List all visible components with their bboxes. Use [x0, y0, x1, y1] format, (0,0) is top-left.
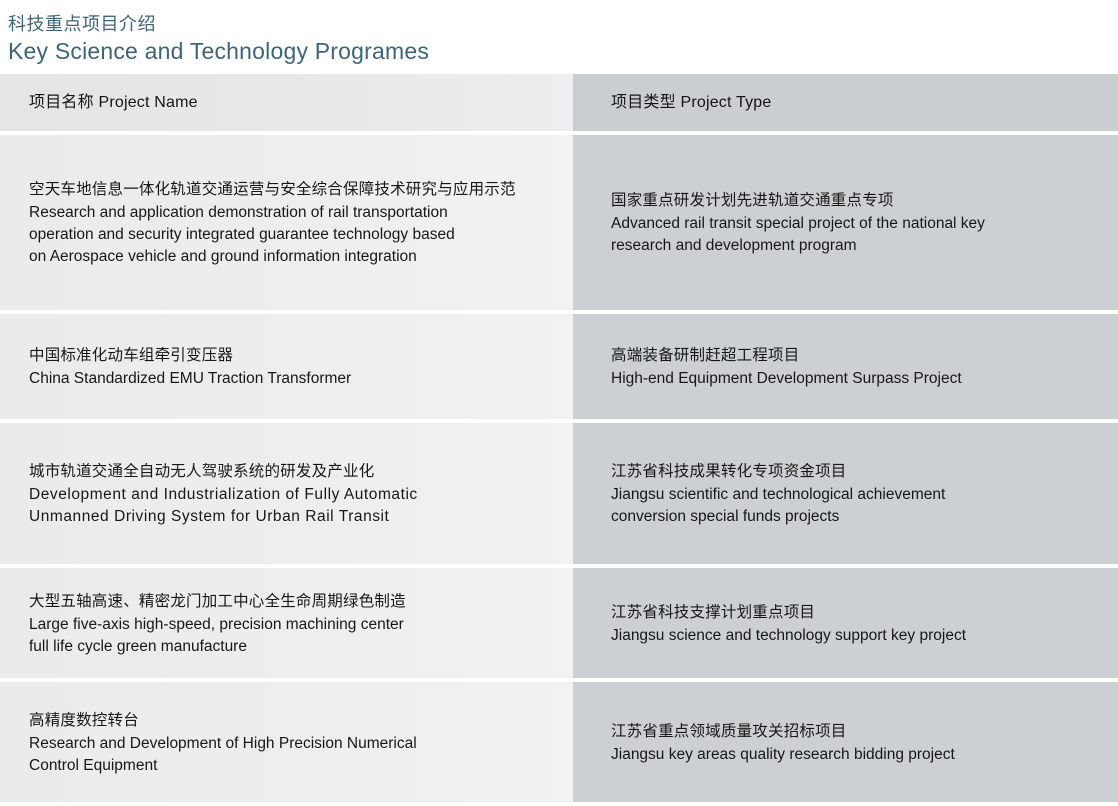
project-type-english-line: Advanced rail transit special project of… [611, 213, 1100, 235]
page-title-chinese: 科技重点项目介绍 [8, 12, 1118, 36]
project-name-english-line: full life cycle green manufacture [29, 636, 559, 658]
header-label-project-type: 项目类型 Project Type [611, 92, 1100, 114]
project-name-english-line: Development and Industrialization of Ful… [29, 484, 559, 506]
project-name-chinese: 大型五轴高速、精密龙门加工中心全生命周期绿色制造 [29, 589, 559, 614]
project-type-chinese: 江苏省科技成果转化专项资金项目 [611, 459, 1100, 484]
project-name-english-line: Control Equipment [29, 755, 559, 777]
project-name-chinese: 空天车地信息一体化轨道交通运营与安全综合保障技术研究与应用示范 [29, 177, 559, 202]
header-cell-project-type: 项目类型 Project Type [573, 74, 1118, 131]
project-name-english-line: China Standardized EMU Traction Transfor… [29, 368, 559, 390]
table-row: 城市轨道交通全自动无人驾驶系统的研发及产业化 Development and I… [0, 423, 1118, 564]
cell-project-name: 高精度数控转台 Research and Development of High… [0, 682, 573, 802]
project-type-chinese: 江苏省重点领域质量攻关招标项目 [611, 719, 1100, 744]
project-type-chinese: 江苏省科技支撑计划重点项目 [611, 600, 1100, 625]
header-cell-project-name: 项目名称 Project Name [0, 74, 573, 131]
table-row: 空天车地信息一体化轨道交通运营与安全综合保障技术研究与应用示范 Research… [0, 135, 1118, 310]
project-name-english-line: Research and application demonstration o… [29, 202, 559, 224]
project-type-english-line: research and development program [611, 235, 1100, 257]
table-header-row: 项目名称 Project Name 项目类型 Project Type [0, 74, 1118, 131]
project-name-english-line: Large five-axis high-speed, precision ma… [29, 614, 559, 636]
table-row: 高精度数控转台 Research and Development of High… [0, 682, 1118, 802]
cell-project-type: 国家重点研发计划先进轨道交通重点专项 Advanced rail transit… [573, 135, 1118, 310]
page-title-english: Key Science and Technology Programes [8, 36, 1118, 66]
cell-project-type: 江苏省重点领域质量攻关招标项目 Jiangsu key areas qualit… [573, 682, 1118, 802]
programs-table: 项目名称 Project Name 项目类型 Project Type 空天车地… [0, 74, 1118, 802]
project-type-english-line: Jiangsu science and technology support k… [611, 625, 1100, 647]
table-row: 中国标准化动车组牵引变压器 China Standardized EMU Tra… [0, 314, 1118, 419]
cell-project-type: 高端装备研制赶超工程项目 High-end Equipment Developm… [573, 314, 1118, 419]
project-name-chinese: 中国标准化动车组牵引变压器 [29, 343, 559, 368]
project-name-english-line: Research and Development of High Precisi… [29, 733, 559, 755]
project-name-english-line: on Aerospace vehicle and ground informat… [29, 246, 559, 268]
project-name-english-line: Unmanned Driving System for Urban Rail T… [29, 506, 559, 528]
project-type-english-line: conversion special funds projects [611, 506, 1100, 528]
page-title-block: 科技重点项目介绍 Key Science and Technology Prog… [0, 0, 1118, 74]
project-type-english-line: Jiangsu key areas quality research biddi… [611, 744, 1100, 766]
cell-project-type: 江苏省科技成果转化专项资金项目 Jiangsu scientific and t… [573, 423, 1118, 564]
cell-project-name: 中国标准化动车组牵引变压器 China Standardized EMU Tra… [0, 314, 573, 419]
table-row: 大型五轴高速、精密龙门加工中心全生命周期绿色制造 Large five-axis… [0, 568, 1118, 678]
project-type-chinese: 高端装备研制赶超工程项目 [611, 343, 1100, 368]
cell-project-name: 空天车地信息一体化轨道交通运营与安全综合保障技术研究与应用示范 Research… [0, 135, 573, 310]
project-type-chinese: 国家重点研发计划先进轨道交通重点专项 [611, 188, 1100, 213]
project-name-chinese: 城市轨道交通全自动无人驾驶系统的研发及产业化 [29, 459, 559, 484]
header-label-project-name: 项目名称 Project Name [29, 92, 559, 114]
project-type-english-line: High-end Equipment Development Surpass P… [611, 368, 1100, 390]
project-name-chinese: 高精度数控转台 [29, 708, 559, 733]
cell-project-name: 大型五轴高速、精密龙门加工中心全生命周期绿色制造 Large five-axis… [0, 568, 573, 678]
cell-project-type: 江苏省科技支撑计划重点项目 Jiangsu science and techno… [573, 568, 1118, 678]
project-name-english-line: operation and security integrated guaran… [29, 224, 559, 246]
project-type-english-line: Jiangsu scientific and technological ach… [611, 484, 1100, 506]
cell-project-name: 城市轨道交通全自动无人驾驶系统的研发及产业化 Development and I… [0, 423, 573, 564]
